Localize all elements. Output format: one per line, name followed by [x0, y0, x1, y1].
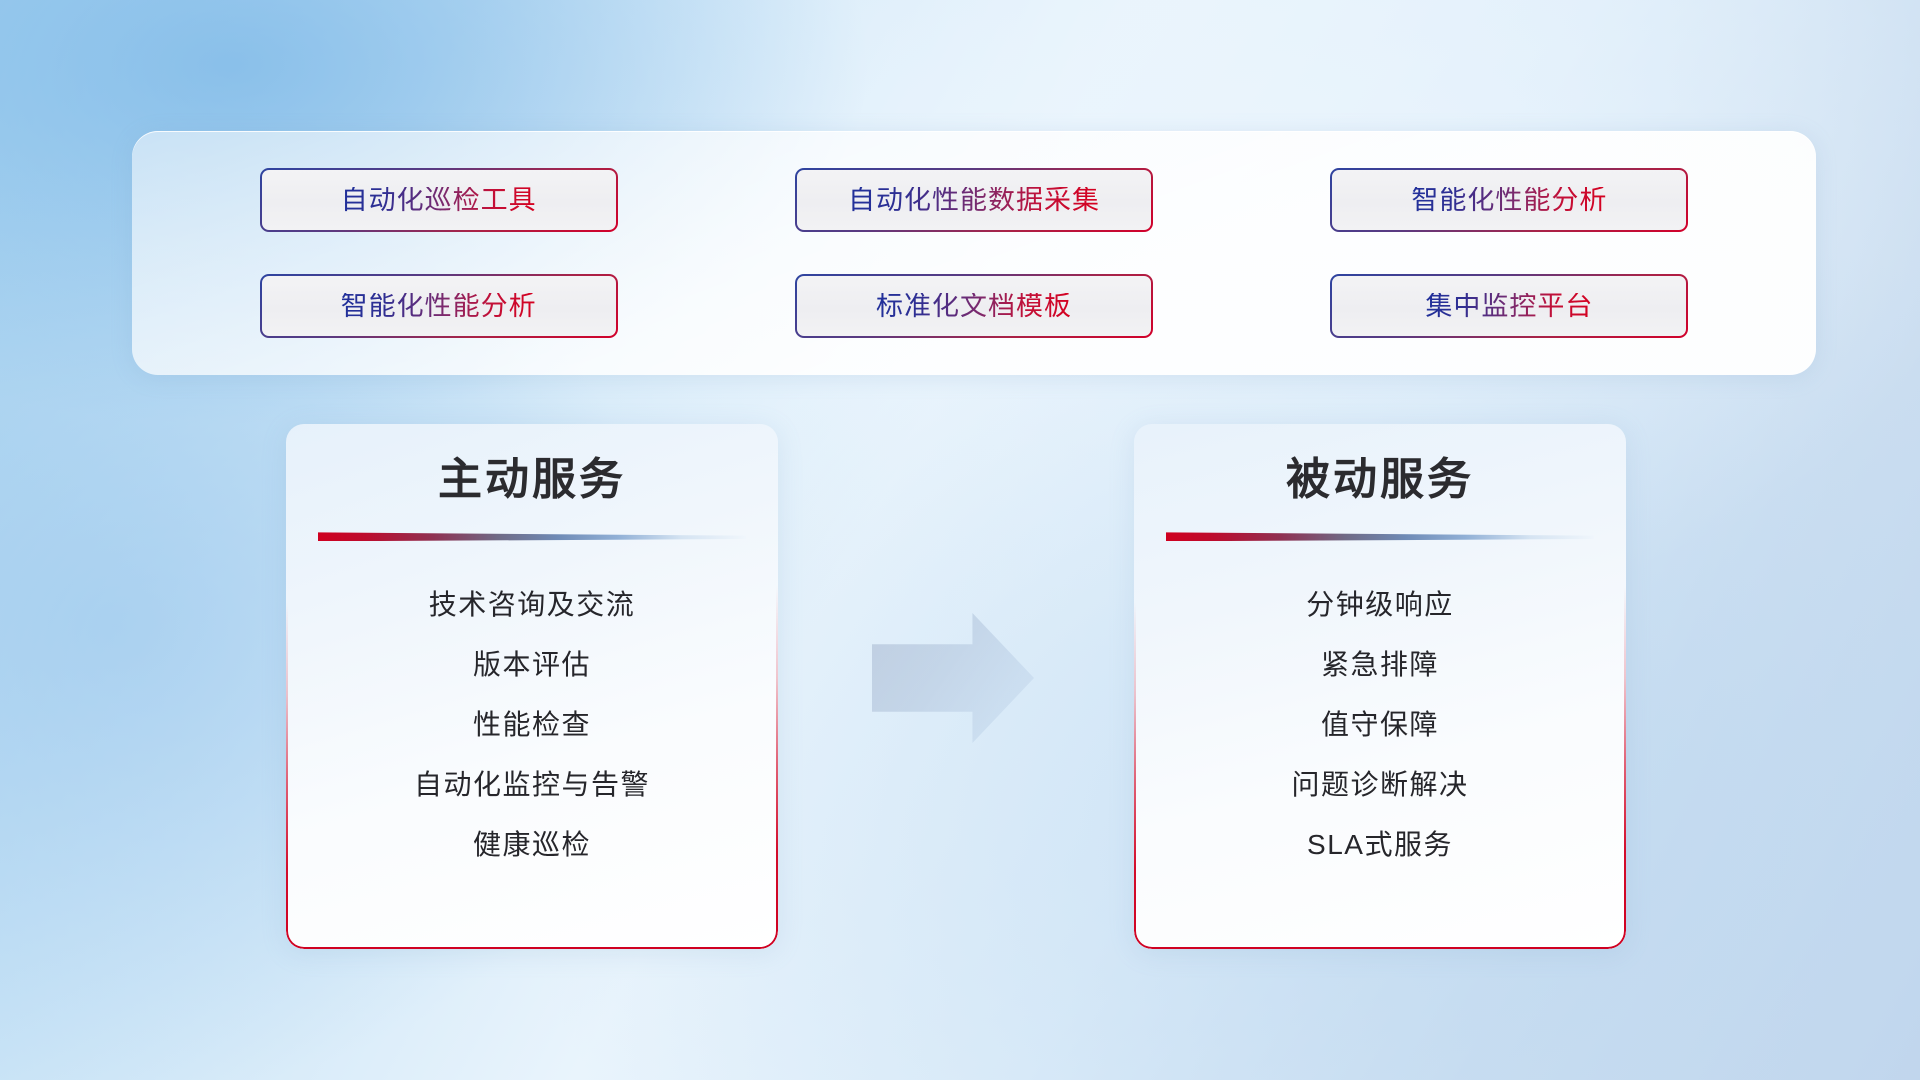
capability-pill-2-surface: 自动化性能数据采集: [797, 170, 1151, 230]
gradient-bar: [1166, 530, 1594, 541]
list-item: 问题诊断解决: [1134, 755, 1626, 815]
list-item: 版本评估: [286, 635, 778, 695]
list-item: 性能检查: [286, 695, 778, 755]
capability-pill-6[interactable]: 集中监控平台: [1330, 274, 1688, 338]
capability-pill-2-label: 自动化性能数据采集: [848, 187, 1100, 214]
list-item: SLA式服务: [1134, 815, 1626, 875]
capability-pill-1-label: 自动化巡检工具: [341, 187, 537, 214]
service-card-passive-divider: [1166, 530, 1594, 541]
capability-pill-4[interactable]: 智能化性能分析: [260, 274, 618, 338]
capability-pill-3-label: 智能化性能分析: [1411, 187, 1607, 214]
list-item: 健康巡检: [286, 815, 778, 875]
capability-pill-1-surface: 自动化巡检工具: [262, 170, 616, 230]
gradient-bar: [318, 530, 746, 541]
service-card-passive-list: 分钟级响应 紧急排障 值守保障 问题诊断解决 SLA式服务: [1134, 541, 1626, 875]
arrow-right-shape: [872, 613, 1034, 743]
capability-pill-5-surface: 标准化文档模板: [797, 276, 1151, 336]
capability-pill-1[interactable]: 自动化巡检工具: [260, 168, 618, 232]
capability-pill-3-surface: 智能化性能分析: [1332, 170, 1686, 230]
list-item: 紧急排障: [1134, 635, 1626, 695]
service-card-passive: 被动服务 分钟级响应 紧急排障 值守保障 问题诊断解决 SLA式服务: [1134, 424, 1626, 949]
list-item: 自动化监控与告警: [286, 755, 778, 815]
slide-canvas: 自动化巡检工具 自动化性能数据采集 智能化性能分析 智能化性能分析: [0, 0, 1920, 1080]
capability-pill-3[interactable]: 智能化性能分析: [1330, 168, 1688, 232]
capability-pill-2[interactable]: 自动化性能数据采集: [795, 168, 1153, 232]
service-card-passive-title: 被动服务: [1134, 424, 1626, 504]
service-card-active-list: 技术咨询及交流 版本评估 性能检查 自动化监控与告警 健康巡检: [286, 541, 778, 875]
list-item: 值守保障: [1134, 695, 1626, 755]
list-item: 技术咨询及交流: [286, 575, 778, 635]
capability-pill-6-label: 集中监控平台: [1425, 293, 1593, 320]
arrow-right-icon: [872, 613, 1034, 743]
capabilities-pill-grid: 自动化巡检工具 自动化性能数据采集 智能化性能分析 智能化性能分析: [204, 155, 1744, 351]
service-card-active-divider: [318, 530, 746, 541]
service-card-active-title: 主动服务: [286, 424, 778, 504]
capability-pill-5[interactable]: 标准化文档模板: [795, 274, 1153, 338]
capability-pill-5-label: 标准化文档模板: [876, 293, 1072, 320]
capability-pill-4-surface: 智能化性能分析: [262, 276, 616, 336]
list-item: 分钟级响应: [1134, 575, 1626, 635]
service-card-active: 主动服务 技术咨询及交流 版本评估 性能检查 自动化监控与告警 健康巡检: [286, 424, 778, 949]
capability-pill-6-surface: 集中监控平台: [1332, 276, 1686, 336]
capabilities-panel: 自动化巡检工具 自动化性能数据采集 智能化性能分析 智能化性能分析: [132, 131, 1816, 375]
capability-pill-4-label: 智能化性能分析: [341, 293, 537, 320]
